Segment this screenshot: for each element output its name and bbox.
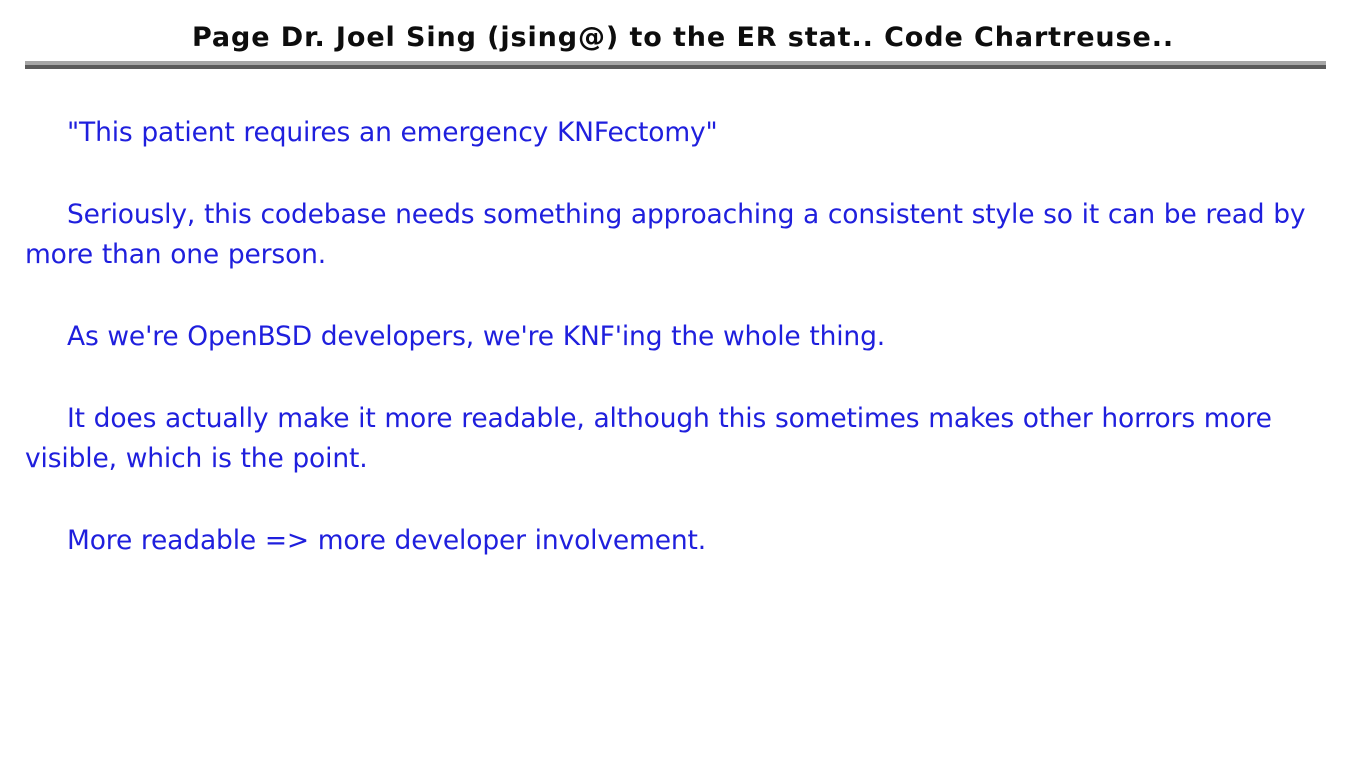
slide-paragraph: It does actually make it more readable, … — [25, 399, 1310, 479]
slide-paragraph: Seriously, this codebase needs something… — [25, 195, 1320, 275]
slide-paragraph: As we're OpenBSD developers, we're KNF'i… — [25, 317, 1325, 357]
slide-paragraph: More readable => more developer involvem… — [25, 521, 1325, 561]
slide-body: "This patient requires an emergency KNFe… — [25, 113, 1325, 561]
slide-paragraph: "This patient requires an emergency KNFe… — [25, 113, 1325, 153]
presentation-slide: Page Dr. Joel Sing (jsing@) to the ER st… — [0, 0, 1366, 768]
page-title: Page Dr. Joel Sing (jsing@) to the ER st… — [0, 22, 1366, 54]
title-divider — [25, 61, 1326, 69]
